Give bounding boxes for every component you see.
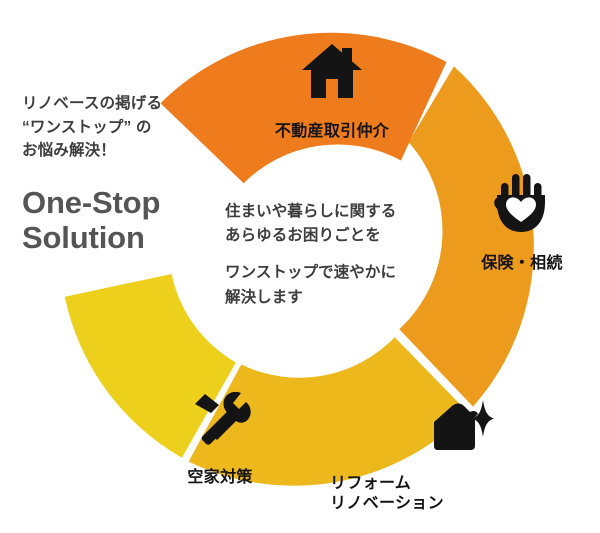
page-title: One-Stop Solution <box>22 185 222 256</box>
lead-copy: リノベースの掲げる “ワンストップ” の お悩み解決！ <box>22 92 222 163</box>
left-text-block: リノベースの掲げる “ワンストップ” の お悩み解決！ One-Stop Sol… <box>22 92 222 255</box>
center-text-block: 住まいや暮らしに関する あらゆるお困りごとを ワンストップで速やかに 解決します <box>225 200 440 310</box>
center-paragraph-1: 住まいや暮らしに関する あらゆるお困りごとを <box>225 200 440 248</box>
center-paragraph-2: ワンストップで速やかに 解決します <box>225 261 440 309</box>
infographic-canvas: 不動産取引仲介 保険・相続 リフォーム リノベーション <box>0 0 600 533</box>
